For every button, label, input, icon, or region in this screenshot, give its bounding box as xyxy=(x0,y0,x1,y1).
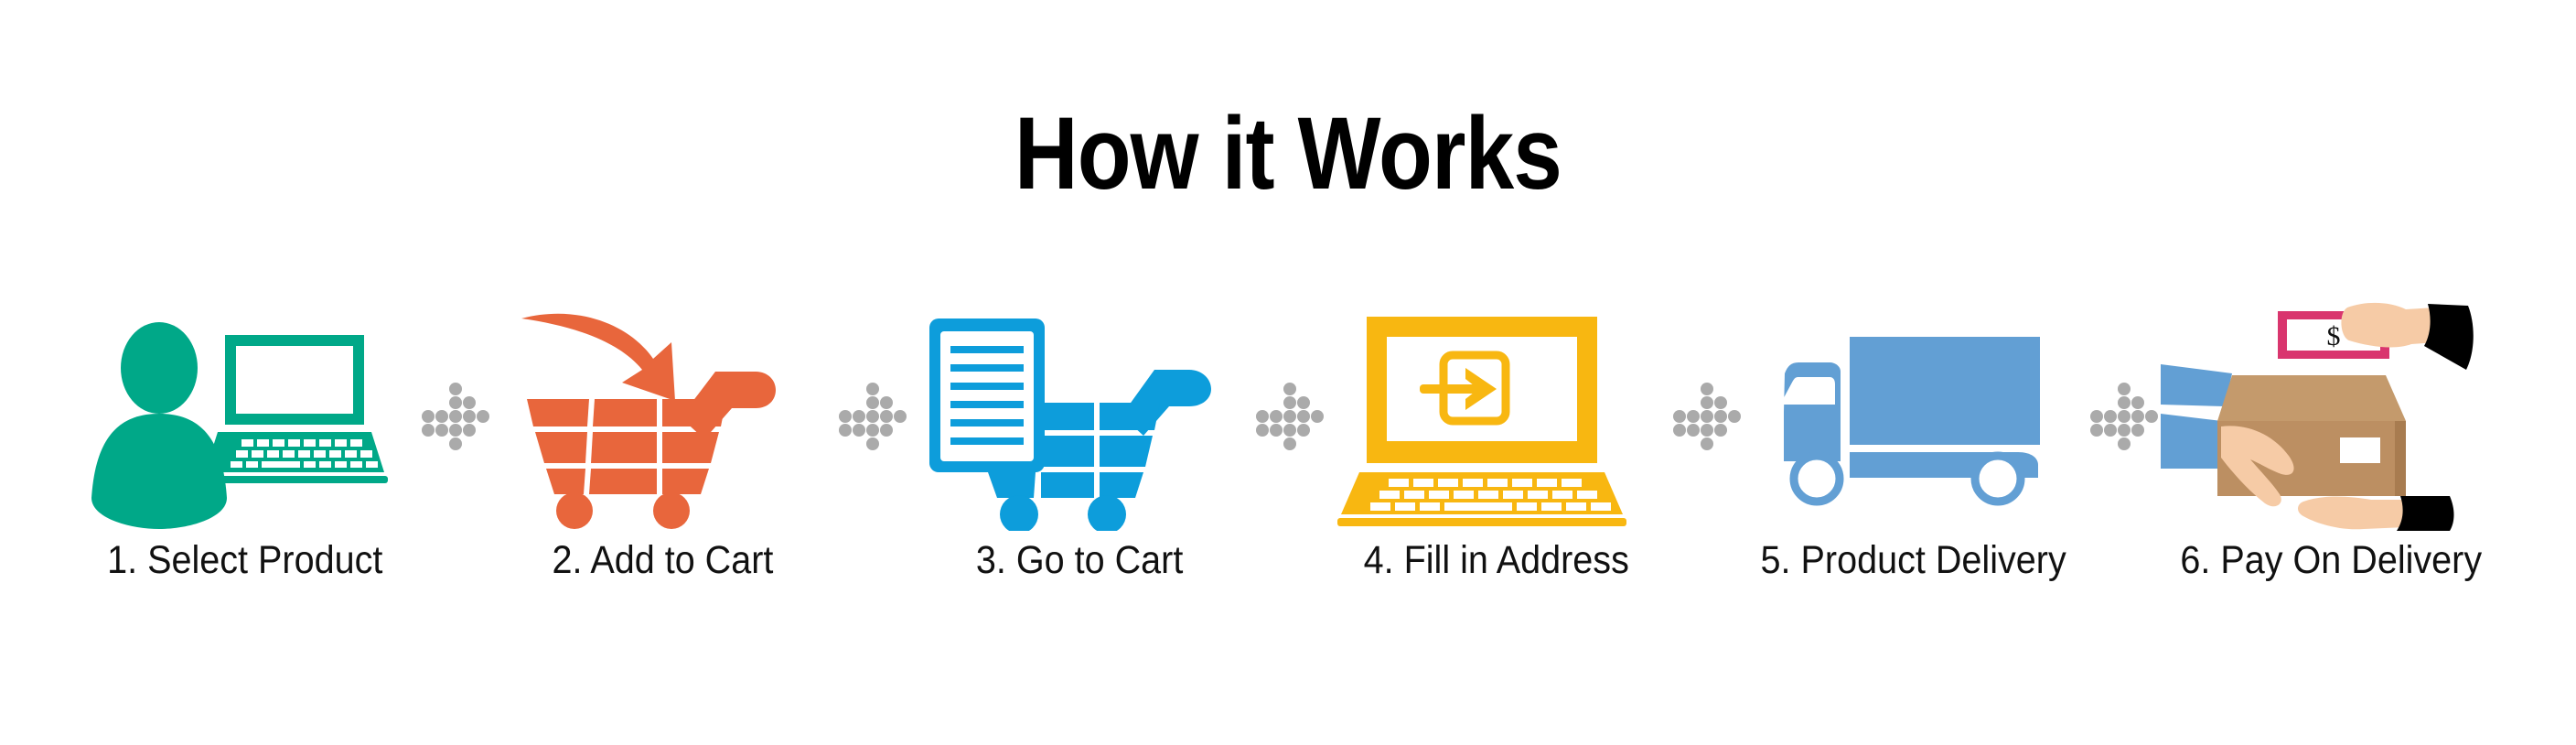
dotted-right-arrow-icon xyxy=(832,302,909,531)
steps-row: 1. Select Product xyxy=(0,302,2576,632)
laptop-with-login-arrow-icon xyxy=(1326,302,1667,531)
person-with-laptop-icon xyxy=(75,302,415,531)
step-5-label: 5. Product Delivery xyxy=(1761,540,2066,581)
shopping-cart-with-arrow-icon xyxy=(492,302,832,531)
hands-exchanging-box-and-cash-icon: $ xyxy=(2161,302,2501,531)
page-title: How it Works xyxy=(180,103,2396,205)
dotted-right-arrow-icon xyxy=(1250,302,1326,531)
dotted-right-arrow-icon xyxy=(1667,302,1744,531)
step-6-pay-on-delivery[interactable]: $ xyxy=(2161,302,2501,632)
step-3-label: 3. Go to Cart xyxy=(976,540,1183,581)
how-it-works-infographic: How it Works xyxy=(0,0,2576,745)
step-6-label: 6. Pay On Delivery xyxy=(2180,540,2482,581)
step-5-product-delivery[interactable]: 5. Product Delivery xyxy=(1744,302,2084,632)
step-1-label: 1. Select Product xyxy=(107,540,382,581)
step-3-go-to-cart[interactable]: 3. Go to Cart xyxy=(909,302,1250,632)
invoice-list-with-cart-icon xyxy=(909,302,1250,531)
dollar-symbol: $ xyxy=(2327,321,2341,351)
step-2-label: 2. Add to Cart xyxy=(552,540,773,581)
step-2-add-to-cart[interactable]: 2. Add to Cart xyxy=(492,302,832,632)
step-4-label: 4. Fill in Address xyxy=(1364,540,1629,581)
step-4-fill-in-address[interactable]: 4. Fill in Address xyxy=(1326,302,1667,632)
delivery-truck-icon xyxy=(1744,302,2084,531)
dotted-right-arrow-icon xyxy=(2084,302,2161,531)
step-1-select-product[interactable]: 1. Select Product xyxy=(75,302,415,632)
dotted-right-arrow-icon xyxy=(415,302,492,531)
